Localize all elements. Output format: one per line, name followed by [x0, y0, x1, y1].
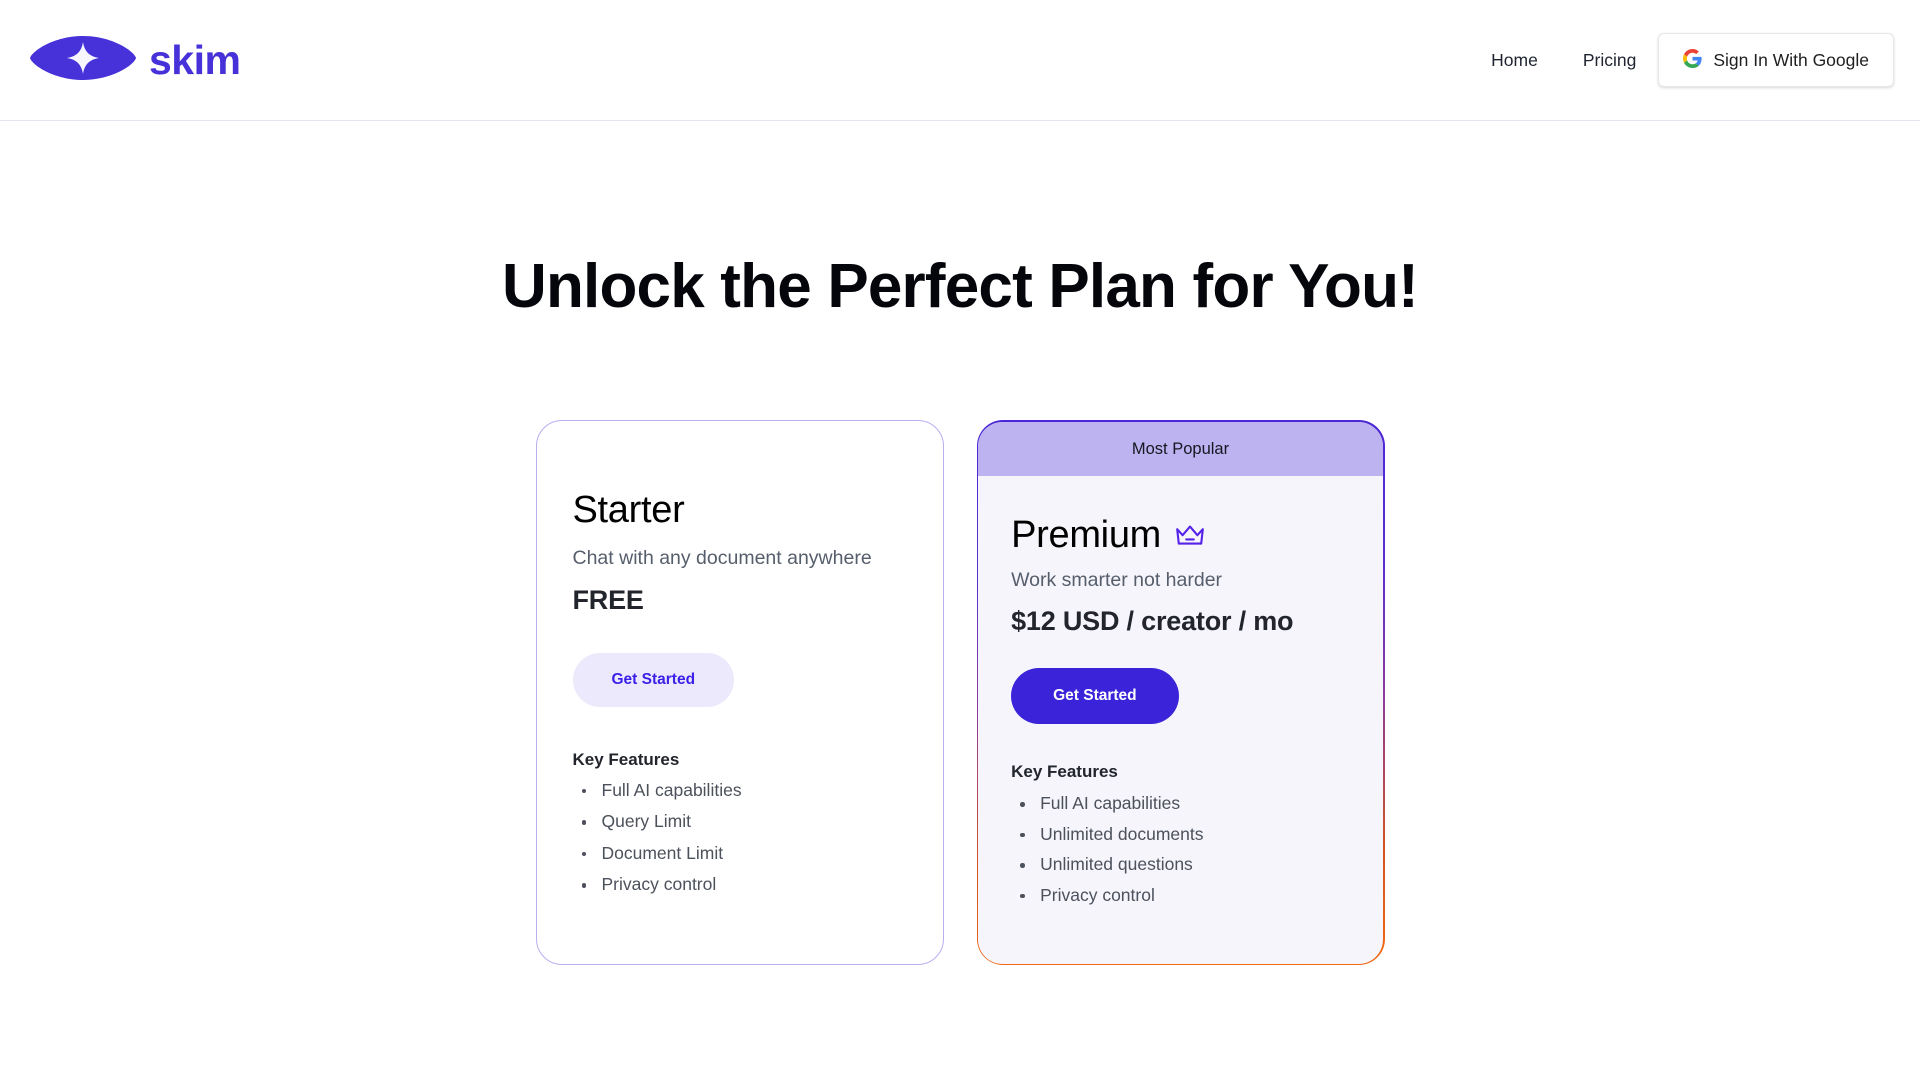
- list-item: Full AI capabilities: [1011, 795, 1347, 813]
- features-title-premium: Key Features: [1011, 762, 1347, 782]
- get-started-button-premium[interactable]: Get Started: [1011, 668, 1179, 724]
- list-item: Unlimited documents: [1011, 826, 1347, 844]
- google-g-icon: [1683, 49, 1702, 71]
- main-navigation: Home Pricing Sign In With Google: [1491, 33, 1894, 87]
- most-popular-badge: Most Popular: [978, 422, 1383, 476]
- features-title-starter: Key Features: [573, 750, 907, 770]
- sign-in-with-google-button[interactable]: Sign In With Google: [1658, 33, 1894, 87]
- list-item: Unlimited questions: [1011, 856, 1347, 874]
- plan-tagline-premium: Work smarter not harder: [1011, 569, 1347, 592]
- plan-price-premium: $12 USD / creator / mo: [1011, 606, 1347, 637]
- get-started-button-starter[interactable]: Get Started: [573, 653, 735, 707]
- site-header: skim Home Pricing Sign In With Google: [0, 0, 1920, 121]
- list-item: Document Limit: [573, 845, 907, 863]
- nav-link-pricing[interactable]: Pricing: [1583, 44, 1637, 77]
- brand-name: skim: [149, 40, 240, 81]
- plan-name-starter: Starter: [573, 491, 907, 531]
- skim-eye-star-logo-icon: [28, 32, 138, 89]
- nav-link-home[interactable]: Home: [1491, 44, 1538, 77]
- features-list-starter: Full AI capabilities Query Limit Documen…: [573, 782, 907, 894]
- list-item: Privacy control: [573, 876, 907, 894]
- list-item: Query Limit: [573, 813, 907, 831]
- plan-name-premium: Premium: [1011, 516, 1161, 556]
- plan-name-row-premium: Premium: [1011, 516, 1347, 556]
- pricing-page: Unlock the Perfect Plan for You! Starter…: [0, 251, 1920, 965]
- plan-card-premium-body: Premium Work smarter not harder $12 USD …: [978, 476, 1383, 958]
- crown-icon: [1175, 524, 1205, 553]
- plan-tagline-starter: Chat with any document anywhere: [573, 547, 907, 570]
- plan-card-premium: Most Popular Premium Work smarter not ha…: [978, 422, 1383, 964]
- list-item: Privacy control: [1011, 887, 1347, 905]
- features-list-premium: Full AI capabilities Unlimited documents…: [1011, 795, 1347, 904]
- brand-logo-link[interactable]: skim: [28, 32, 240, 89]
- plan-price-starter: FREE: [573, 585, 907, 616]
- page-title: Unlock the Perfect Plan for You!: [0, 251, 1920, 322]
- plan-card-starter: Starter Chat with any document anywhere …: [536, 420, 944, 965]
- sign-in-with-google-label: Sign In With Google: [1713, 50, 1869, 71]
- pricing-plans: Starter Chat with any document anywhere …: [0, 420, 1920, 965]
- plan-card-premium-border: Most Popular Premium Work smarter not ha…: [977, 420, 1385, 965]
- list-item: Full AI capabilities: [573, 782, 907, 800]
